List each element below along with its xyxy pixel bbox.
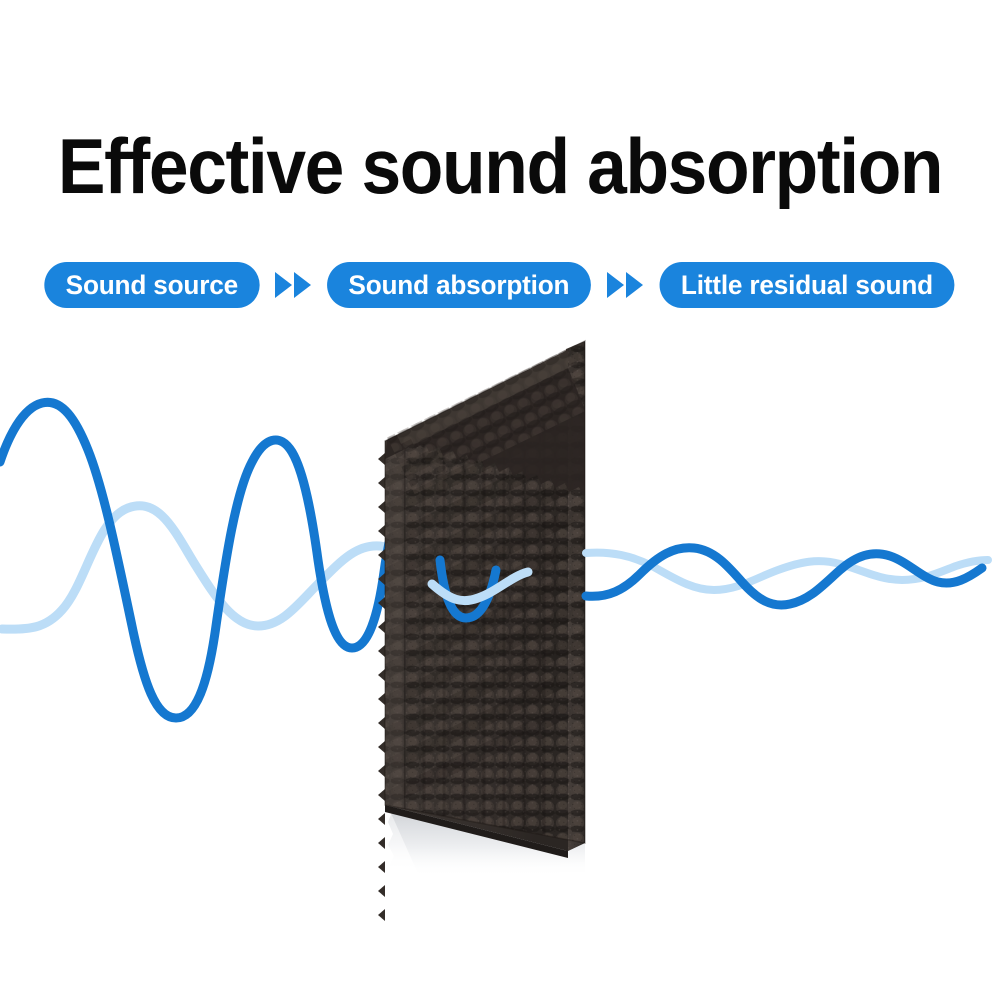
foam-left-profile [378,441,385,933]
flow-step-sound-absorption[interactable]: Sound absorption [327,262,591,308]
page-title: Effective sound absorption [43,118,958,214]
flow-arrow-1 [263,272,323,298]
chevron-right-icon [275,272,292,298]
flow-step-sound-source[interactable]: Sound source [45,262,260,308]
process-flow-row: Sound source Sound absorption Little res… [0,260,1000,310]
chevron-right-icon [607,272,624,298]
residual-primary-wave [586,548,982,605]
flow-arrow-2 [595,272,655,298]
chevron-right-icon [294,272,311,298]
chevron-right-icon [626,272,643,298]
flow-step-little-residual-sound[interactable]: Little residual sound [659,262,954,308]
product-feature-image: Effective sound absorption Sound source … [0,0,1000,1000]
